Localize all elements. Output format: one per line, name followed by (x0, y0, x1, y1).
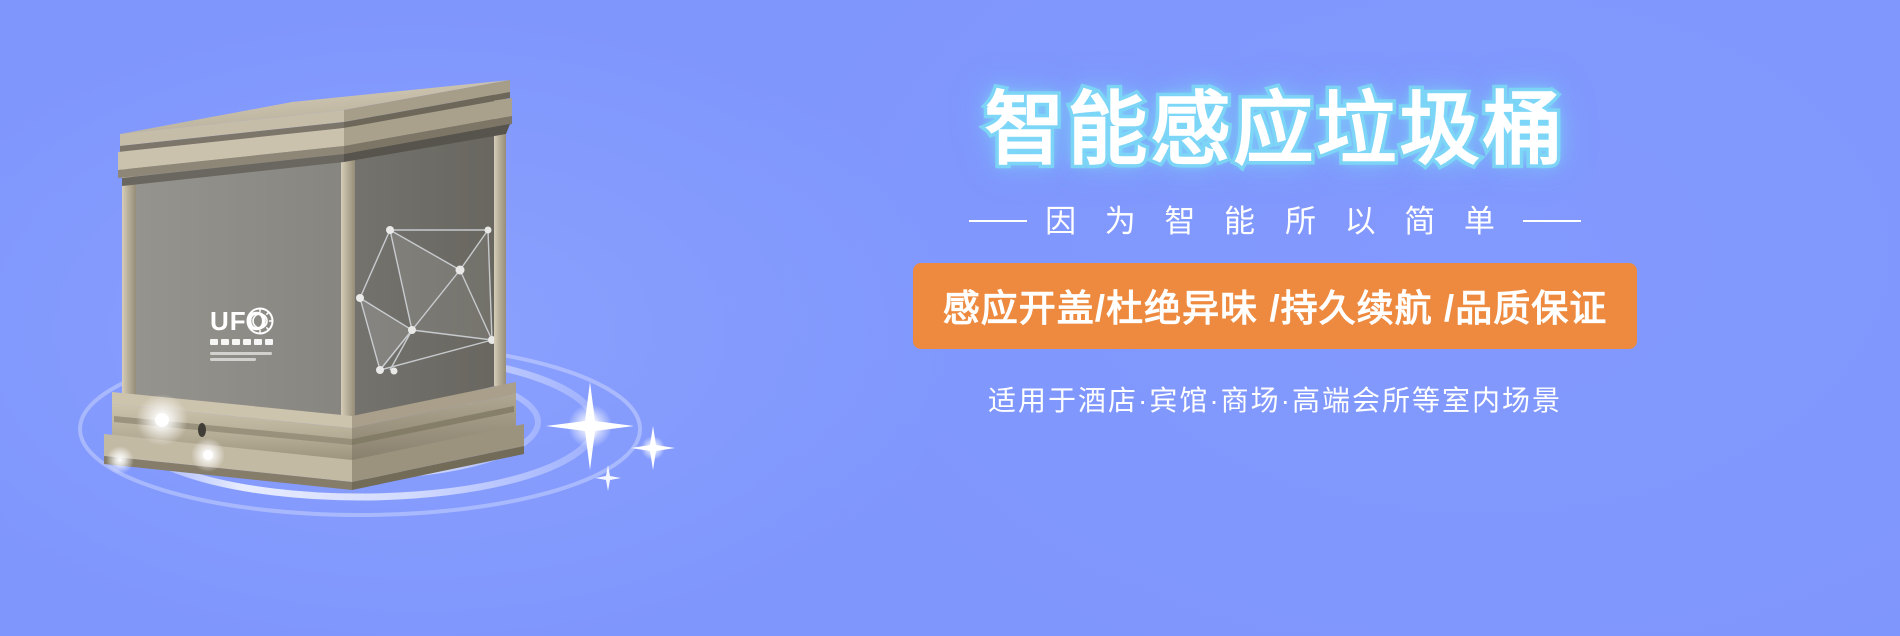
base-sensor-port (198, 423, 206, 437)
subheadline-rule-right (1523, 220, 1581, 222)
subheadline-rule-left (969, 220, 1027, 222)
feature-badge-row: 感应开盖/杜绝异味 /持久续航 /品质保证 (700, 263, 1850, 349)
trash-bin-illustration: UFO (60, 30, 700, 530)
tagline: 适用于酒店·宾馆·商场·高端会所等室内场景 (700, 379, 1850, 419)
bin-right-trim (494, 92, 506, 387)
bin-corner-trim (341, 124, 355, 421)
subheadline-text-left: 因 为 智 能 (1045, 204, 1265, 239)
product-image: UFO (60, 30, 700, 530)
sparkle-star-tiny (595, 465, 621, 491)
subheadline-text-right: 所 以 简 单 (1285, 204, 1505, 239)
feature-badge: 感应开盖/杜绝异味 /持久续航 /品质保证 (913, 263, 1637, 349)
subheadline: 因 为 智 能所 以 简 单 (700, 196, 1850, 241)
brand-logo: UFO (210, 306, 273, 361)
sparkle-star-small (631, 426, 675, 470)
headline: 智能感应垃圾桶 (700, 90, 1850, 170)
copy-block: 智能感应垃圾桶 因 为 智 能所 以 简 单 感应开盖/杜绝异味 /持久续航 /… (700, 90, 1850, 510)
logo-text-ufo: UFO (210, 306, 268, 336)
promo-banner: UFO (0, 0, 1900, 636)
